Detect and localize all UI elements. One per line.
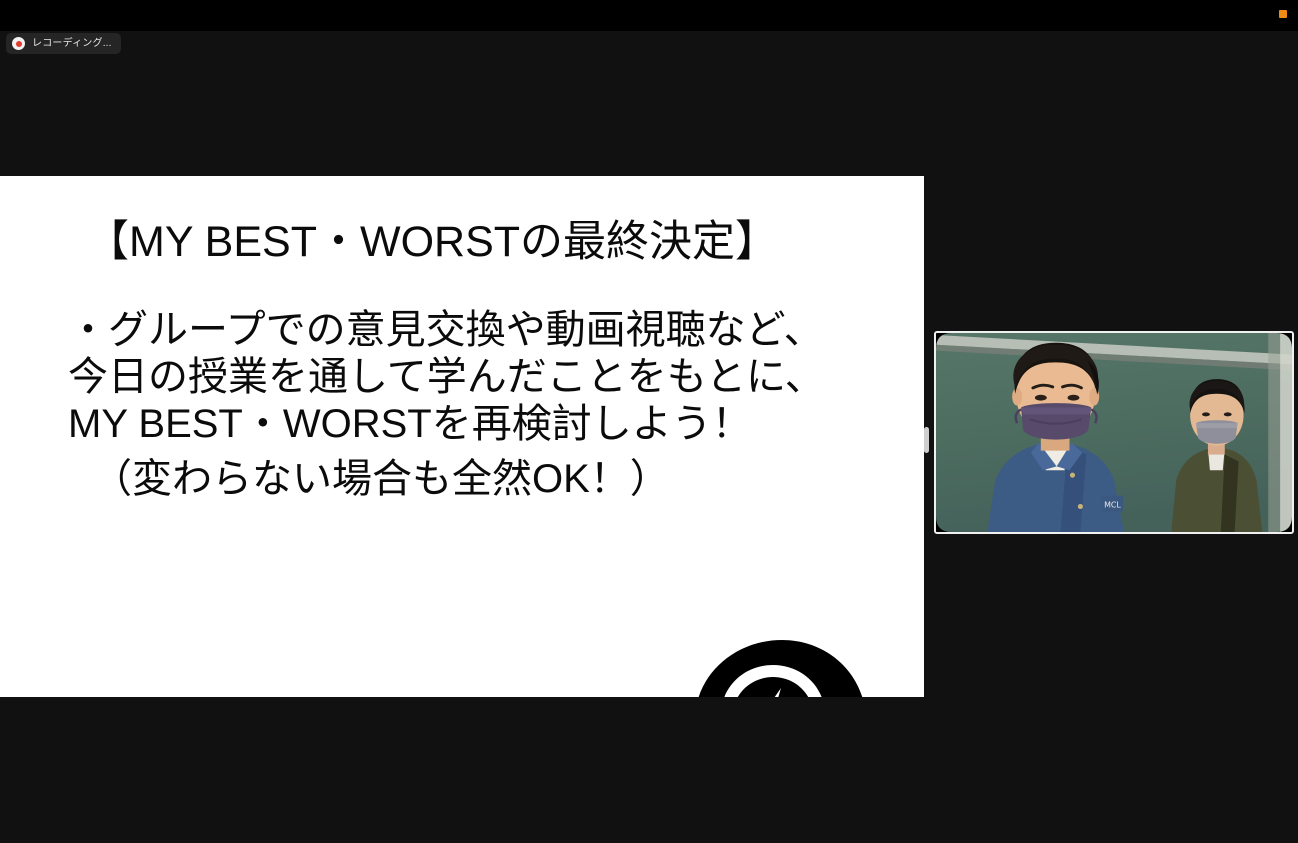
recording-label: レコーディング... [32, 39, 112, 49]
shared-slide[interactable]: 【MY BEST・WORSTの最終決定】 ・グループでの意見交換や動画視聴など、… [0, 176, 924, 697]
slide-title: 【MY BEST・WORSTの最終決定】 [86, 218, 778, 266]
slide-body-line-3: MY BEST・WORSTを再検討しよう！ [68, 401, 898, 448]
slide-body-line-2: 今日の授業を通して学んだことをもとに、 [68, 354, 898, 401]
slide-body-line-1: ・グループでの意見交換や動画視聴など、 [68, 307, 898, 354]
svg-text:MCL: MCL [1104, 501, 1121, 510]
record-icon [12, 37, 25, 50]
head-lightbulb-idea-icon [686, 636, 886, 697]
recording-indicator[interactable]: レコーディング... [6, 33, 121, 54]
slide-body-text: ・グループでの意見交換や動画視聴など、 今日の授業を通して学んだことをもとに、 … [68, 307, 898, 503]
slide-resize-handle[interactable] [924, 427, 929, 453]
top-menu-bar [0, 0, 1298, 31]
orange-status-dot[interactable] [1279, 10, 1287, 18]
participant-video-thumbnail[interactable]: MCL [934, 331, 1294, 534]
slide-body-line-4: （変わらない場合も全然OK！） [68, 456, 898, 503]
